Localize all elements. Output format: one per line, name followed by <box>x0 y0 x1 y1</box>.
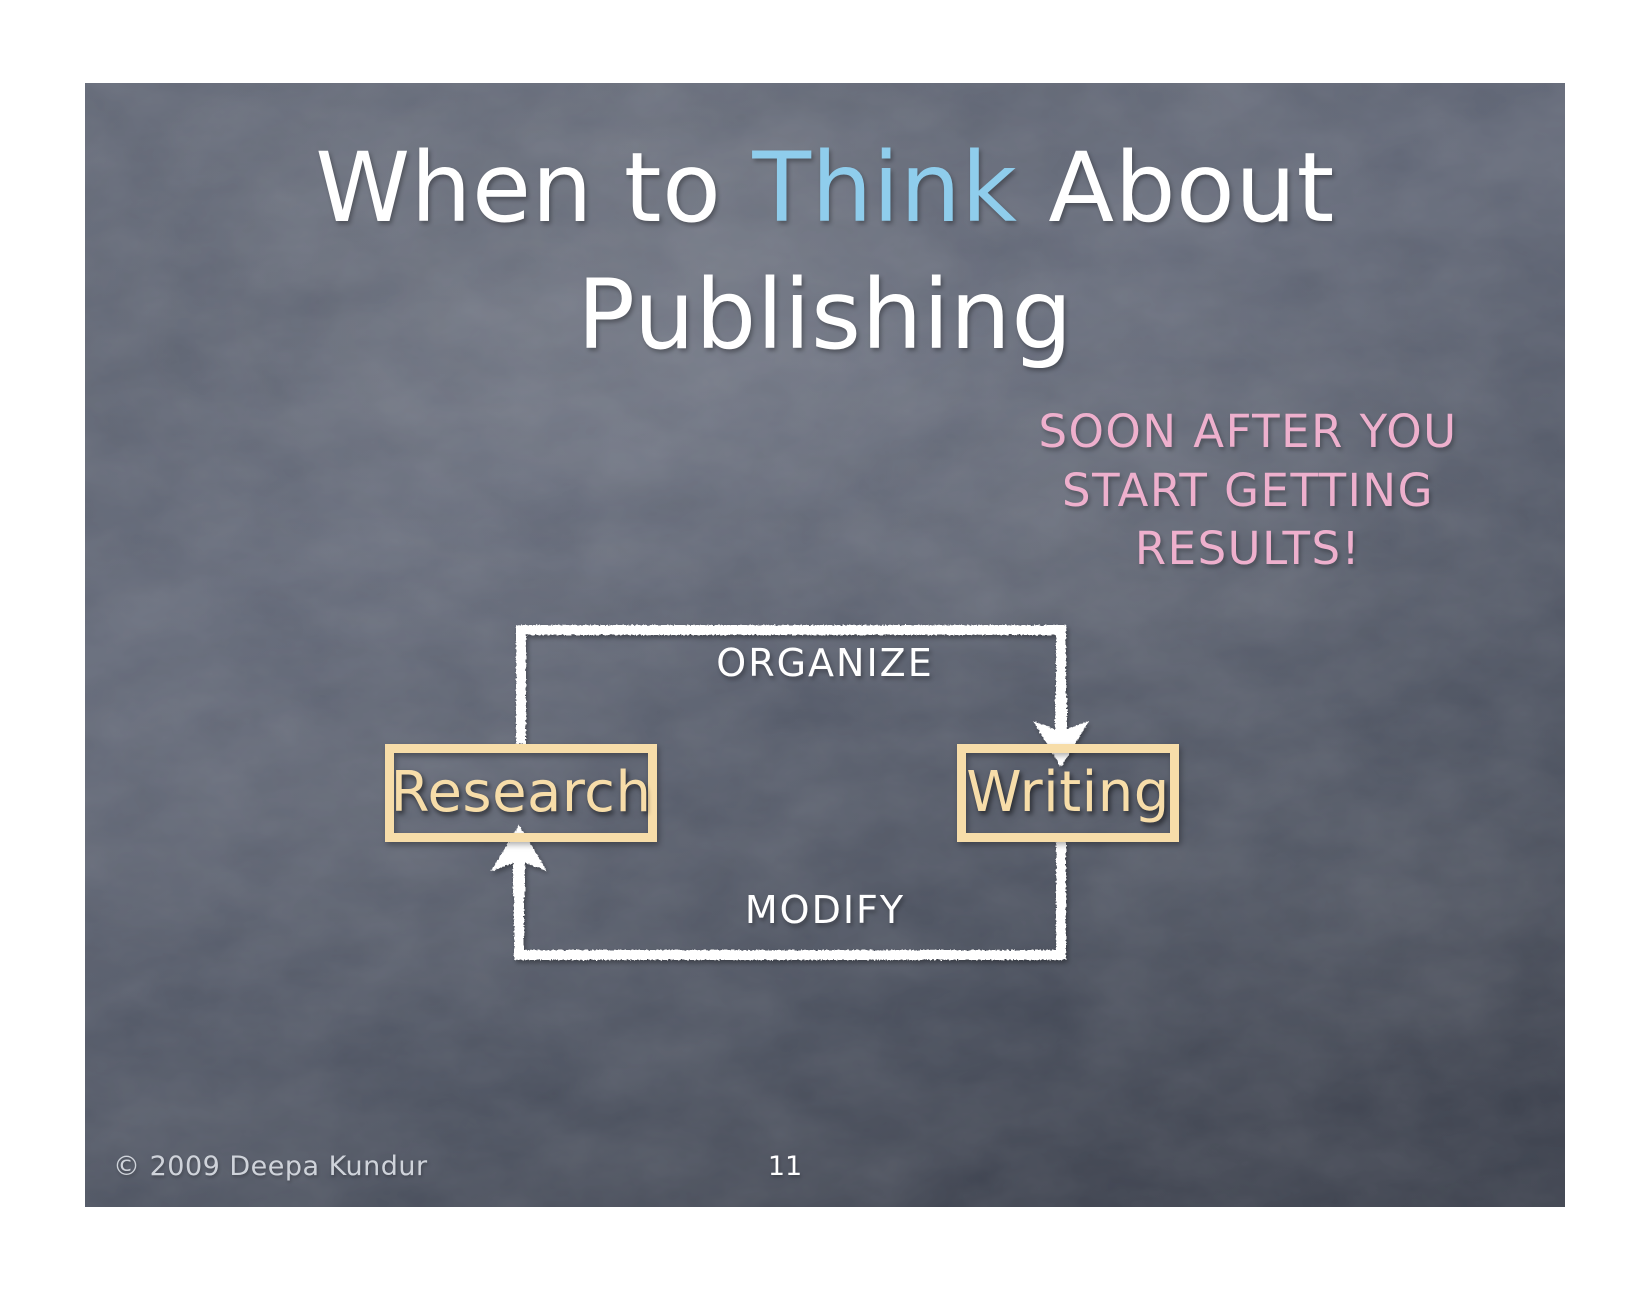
node-writing-label: Writing <box>966 765 1170 821</box>
node-writing[interactable]: Writing <box>957 744 1179 842</box>
footer-page-number: 11 <box>705 1151 865 1182</box>
node-research-label: Research <box>391 765 652 821</box>
node-research[interactable]: Research <box>385 744 657 842</box>
slide-page: When to Think About Publishing SOON AFTE… <box>0 0 1650 1292</box>
footer-copyright: © 2009 Deepa Kundur <box>113 1151 428 1182</box>
edge-label-organize: ORGANIZE <box>85 641 1565 685</box>
edge-label-modify: MODIFY <box>85 888 1565 932</box>
chalkboard-background: When to Think About Publishing SOON AFTE… <box>85 83 1565 1207</box>
flow-diagram: Research Writing ORGANIZE MODIFY <box>85 83 1565 1207</box>
